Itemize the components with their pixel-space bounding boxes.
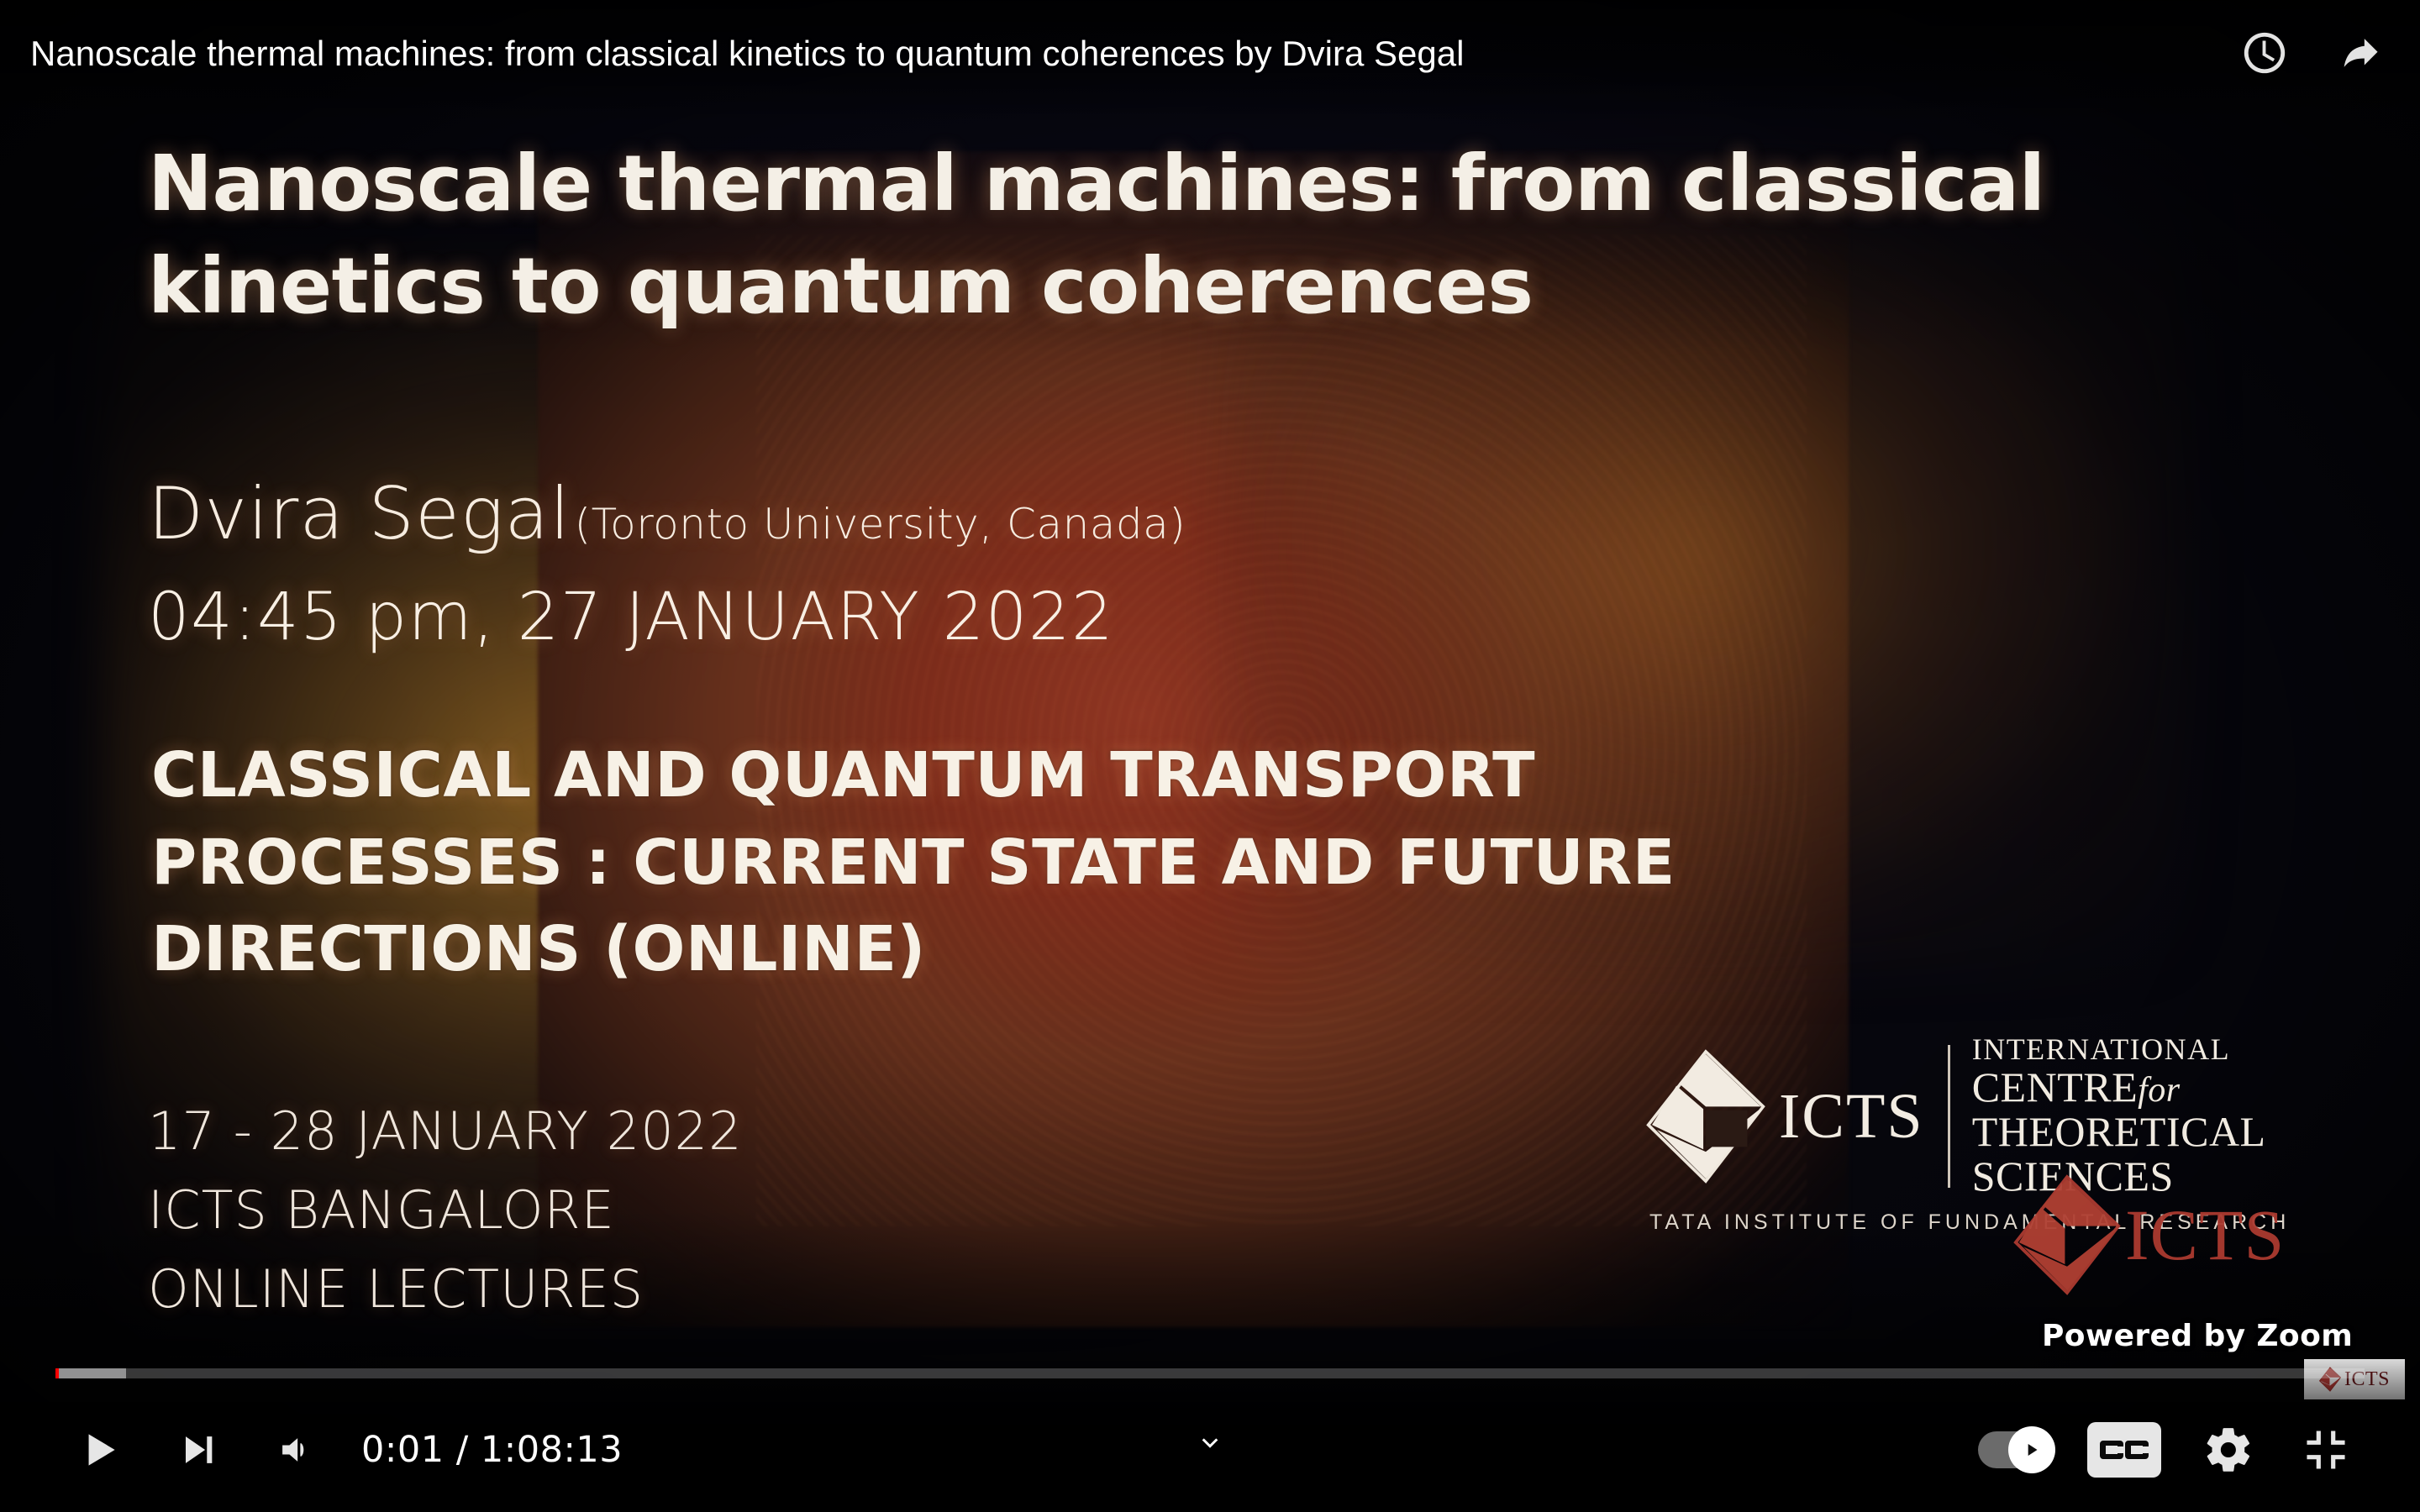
slide-talk-title: Nanoscale thermal machines: from classic…: [148, 133, 2181, 339]
progress-track[interactable]: [55, 1368, 2365, 1378]
video-surface[interactable]: Nanoscale thermal machines: from classic…: [0, 0, 2420, 1512]
icts-name-line4: SCIENCES: [1972, 1154, 2266, 1199]
controls-row: 0:01 / 1:08:13: [0, 1388, 2420, 1512]
speaker-affiliation: (Toronto University, Canada): [575, 500, 1186, 549]
icts-fullname: INTERNATIONAL CENTREfor THEORETICAL SCIE…: [1972, 1033, 2266, 1199]
icts-acronym: ICTS: [1779, 1084, 1924, 1148]
speaker-name: Dvira Segal: [148, 472, 571, 556]
icts-tagline: TATA INSTITUTE OF FUNDAMENTAL RESEARCH: [1649, 1210, 2290, 1235]
video-player: Nanoscale thermal machines: from classic…: [0, 0, 2420, 1512]
icts-name-for: for: [2138, 1071, 2181, 1110]
slide-talk-title-line2: kinetics to quantum coherences: [148, 235, 2181, 338]
event-venue: ICTS BANGALORE: [148, 1171, 743, 1250]
powered-by-zoom: Powered by Zoom: [2042, 1319, 2353, 1353]
icts-logo-row: ICTS INTERNATIONAL CENTREfor THEORETICAL…: [1643, 1033, 2266, 1199]
slide-talk-title-line1: Nanoscale thermal machines: from classic…: [148, 133, 2181, 235]
settings-button[interactable]: [2180, 1388, 2277, 1512]
icts-logo: ICTS INTERNATIONAL CENTREfor THEORETICAL…: [1643, 1033, 2290, 1235]
cc-icon: [2087, 1422, 2161, 1478]
conference-title-line2: PROCESSES : CURRENT STATE AND FUTURE: [151, 820, 2185, 907]
autoplay-toggle[interactable]: [1960, 1388, 2069, 1512]
icts-name-centre: CENTRE: [1972, 1063, 2138, 1110]
autoplay-knob: [2008, 1426, 2055, 1473]
volume-button[interactable]: [245, 1388, 343, 1512]
controls-right-group: [1960, 1388, 2375, 1512]
talk-datetime: 04:45 pm, 27 JANUARY 2022: [148, 580, 1114, 655]
event-details: 17 - 28 JANUARY 2022 ICTS BANGALORE ONLI…: [148, 1092, 743, 1330]
icts-diamond-icon: [1643, 1049, 1769, 1184]
top-actions: [2240, 29, 2385, 77]
next-video-button[interactable]: [148, 1388, 245, 1512]
chevron-down-icon[interactable]: [1173, 1411, 1247, 1478]
player-controls: 0:01 / 1:08:13: [0, 1359, 2420, 1512]
progress-played: [55, 1368, 59, 1378]
subtitles-cc-button[interactable]: [2069, 1388, 2180, 1512]
player-top-bar: Nanoscale thermal machines: from classic…: [0, 0, 2420, 124]
slide-speaker: Dvira Segal (Toronto University, Canada): [148, 472, 1186, 556]
play-button[interactable]: [50, 1388, 148, 1512]
video-title[interactable]: Nanoscale thermal machines: from classic…: [30, 32, 1464, 76]
icts-name-line1: INTERNATIONAL: [1972, 1033, 2266, 1065]
conference-title-line1: CLASSICAL AND QUANTUM TRANSPORT: [151, 732, 2185, 820]
event-dates: 17 - 28 JANUARY 2022: [148, 1092, 743, 1171]
time-display: 0:01 / 1:08:13: [361, 1429, 623, 1471]
controls-left-group: 0:01 / 1:08:13: [50, 1388, 623, 1512]
watch-later-icon[interactable]: [2240, 29, 2289, 77]
icts-name-line3: THEORETICAL: [1972, 1110, 2266, 1154]
icts-name-line2: CENTREfor: [1972, 1065, 2266, 1110]
progress-buffered: [55, 1368, 126, 1378]
slide-content: Nanoscale thermal machines: from classic…: [0, 0, 2420, 1512]
conference-title-line3: DIRECTIONS (ONLINE): [151, 906, 2185, 994]
share-icon[interactable]: [2336, 29, 2385, 77]
event-format: ONLINE LECTURES: [148, 1250, 743, 1329]
icts-logo-divider: [1948, 1045, 1950, 1188]
autoplay-pill: [1978, 1431, 2050, 1468]
progress-bar[interactable]: [0, 1359, 2420, 1388]
conference-title: CLASSICAL AND QUANTUM TRANSPORT PROCESSE…: [151, 732, 2185, 994]
exit-fullscreen-button[interactable]: [2277, 1388, 2375, 1512]
